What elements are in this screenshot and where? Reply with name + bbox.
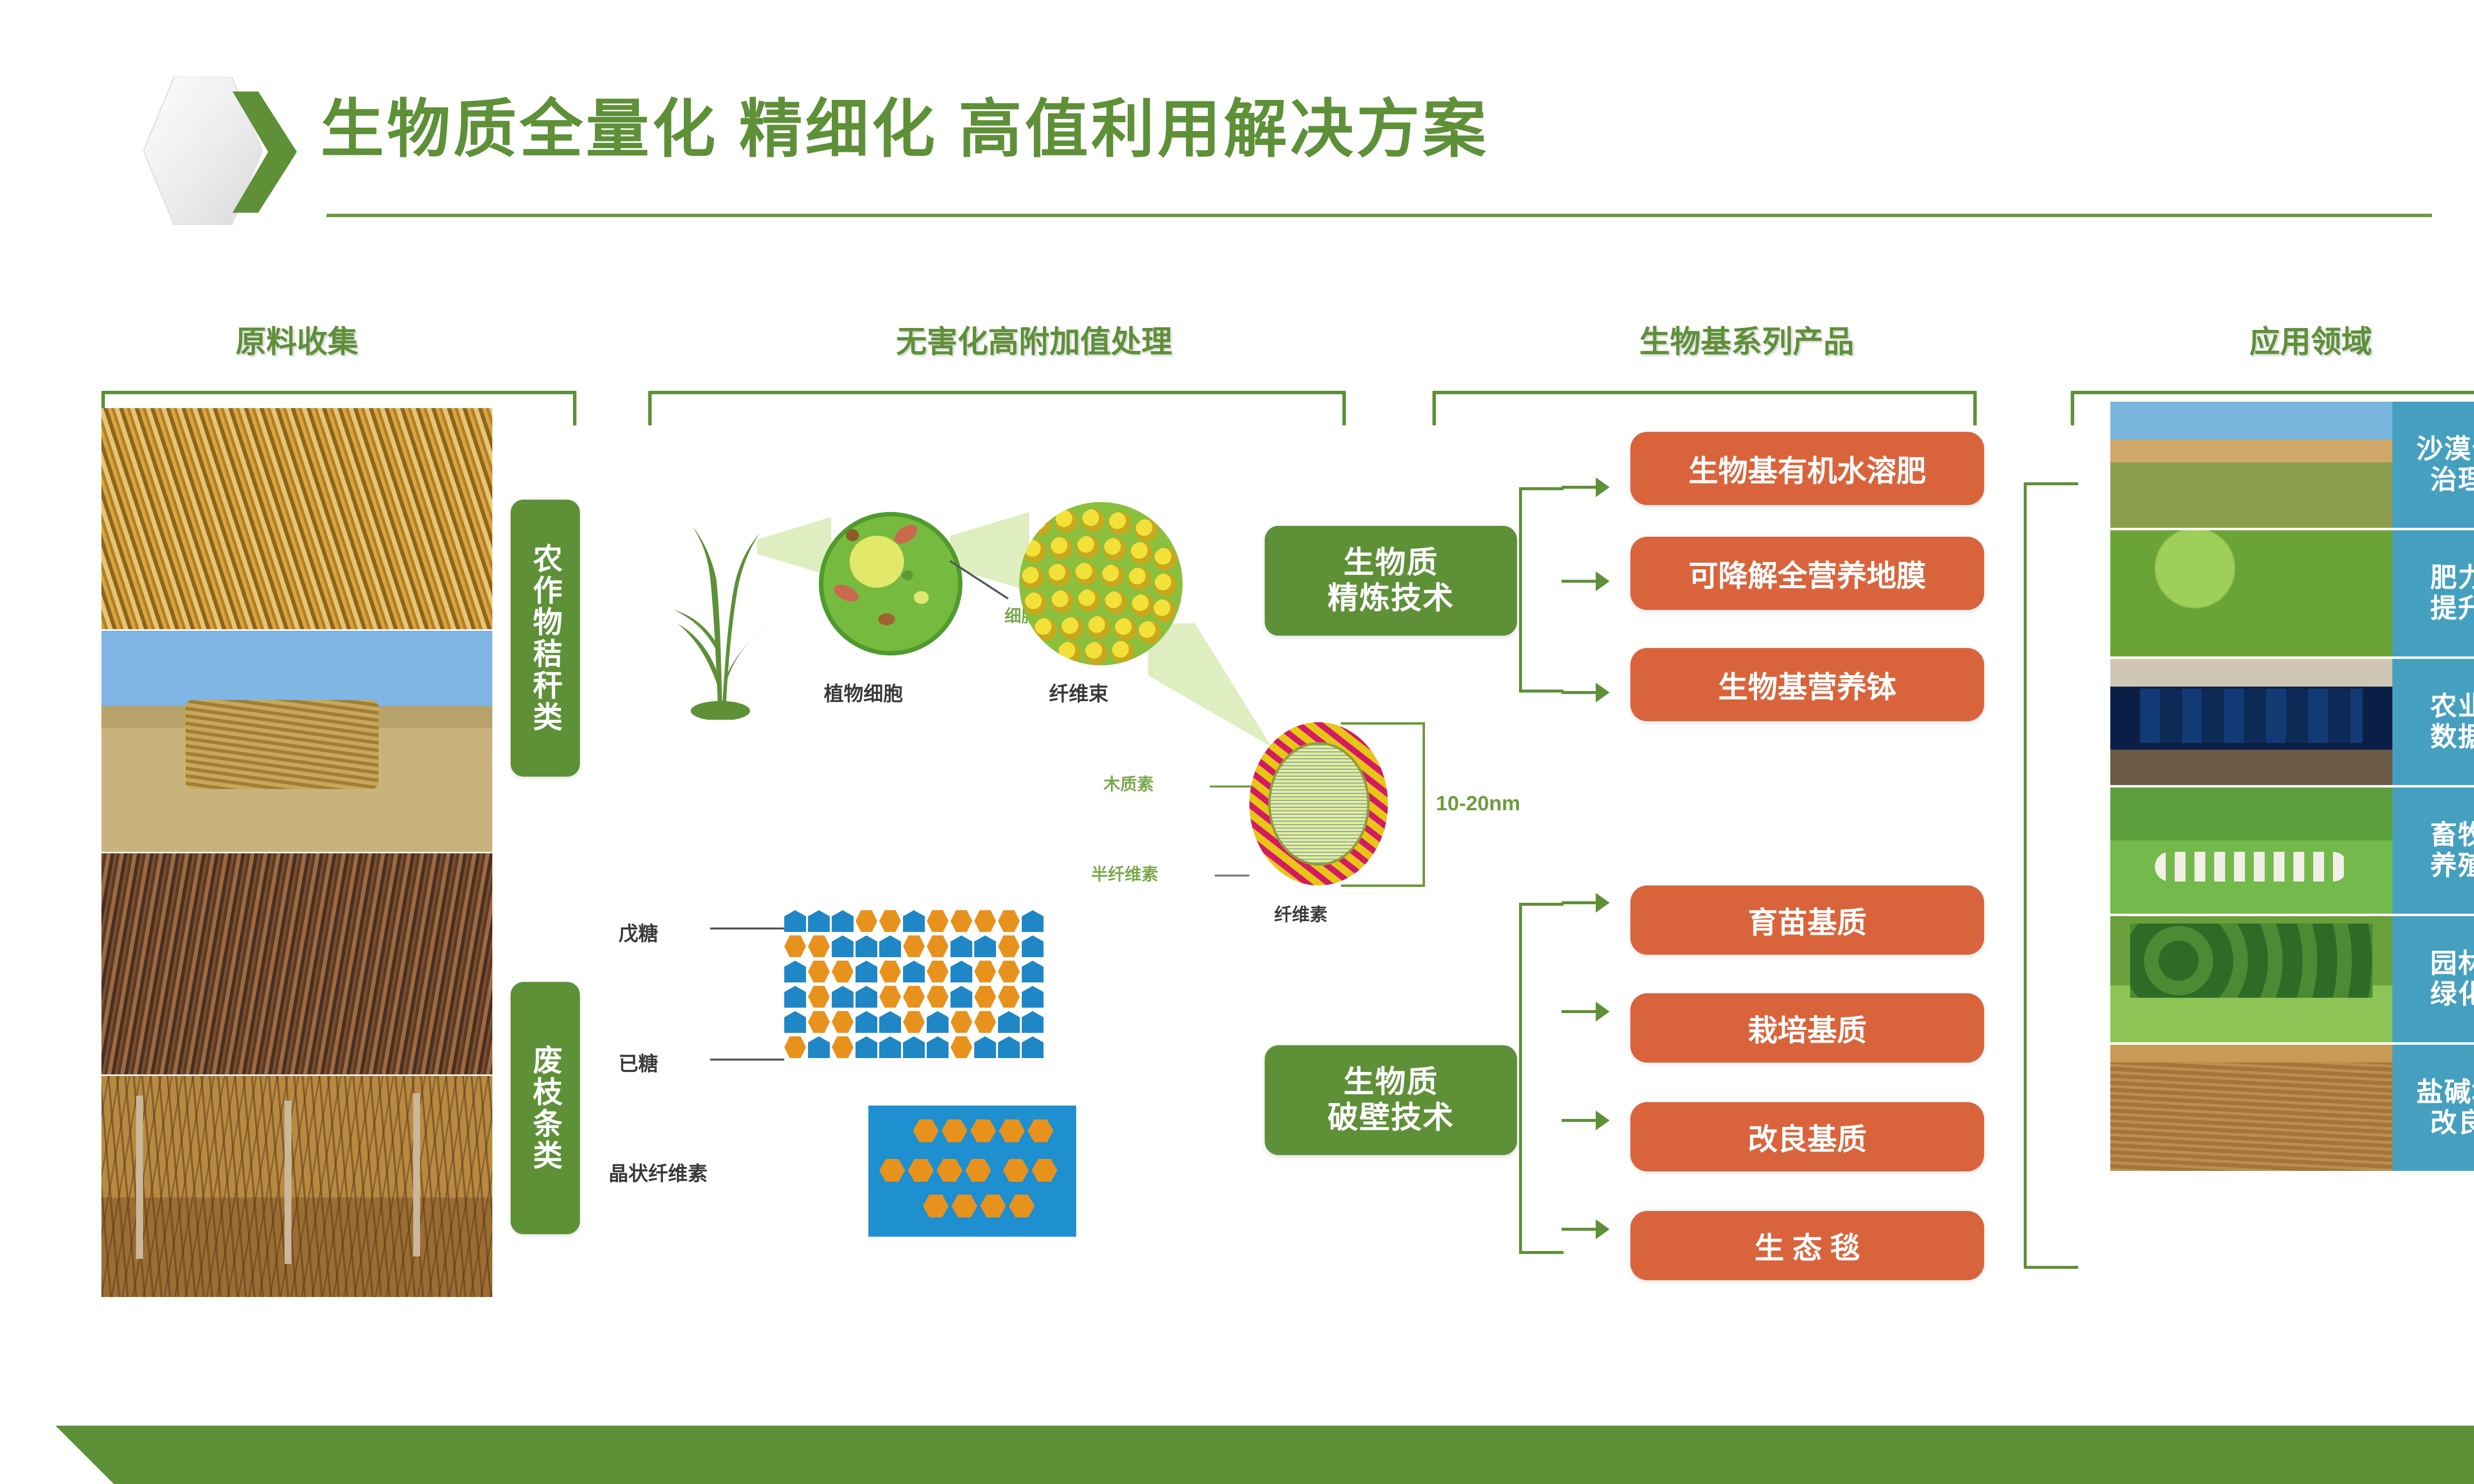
feedstock-photo-column xyxy=(101,408,492,1298)
fertility-photo xyxy=(2110,530,2392,656)
connector-cellwall-trunk xyxy=(1519,903,1564,1254)
dried-straw-photo xyxy=(101,408,492,629)
label-hexose: 已糖 xyxy=(618,1048,658,1076)
product-box-bio-nutrient-pot[interactable]: 生物基营养钵 xyxy=(1630,648,1984,721)
application-label-livestock: 畜牧 养殖 xyxy=(2392,788,2474,914)
connector-arrow-line-7 xyxy=(1562,1228,1599,1231)
agriculture-data-photo xyxy=(2110,659,2392,785)
application-livestock-line1: 畜牧 xyxy=(2430,820,2474,851)
application-row-livestock[interactable]: 畜牧 养殖 xyxy=(2110,788,2474,914)
pentose-leader-line xyxy=(710,927,784,929)
livestock-photo xyxy=(2110,788,2392,914)
connector-arrow-line-6 xyxy=(1562,1119,1599,1122)
connector-arrow-line-3 xyxy=(1562,691,1599,694)
section-header-applications: 应用领域 xyxy=(2078,317,2474,361)
application-landscaping-line2: 绿化 xyxy=(2430,979,2474,1010)
feedstock-category-waste-branches[interactable]: 废枝条类 xyxy=(511,982,580,1234)
label-cellulose: 纤维素 xyxy=(1274,900,1328,926)
connector-arrow-line-2 xyxy=(1562,580,1599,583)
title-underline xyxy=(327,214,2432,217)
label-fiber-bundle: 纤维束 xyxy=(1049,678,1108,706)
technology-box-refining[interactable]: 生物质 精炼技术 xyxy=(1265,526,1517,636)
dimension-bottom-tick xyxy=(1341,884,1425,887)
application-desertification-line2: 治理 xyxy=(2430,465,2474,496)
application-fertility-line2: 提升 xyxy=(2430,594,2474,624)
desertification-photo xyxy=(2110,402,2392,528)
lignin-leader-line xyxy=(1210,786,1252,788)
landscaping-photo xyxy=(2110,916,2392,1042)
infographic-page: 生物质全量化 精细化 高值利用解决方案 原料收集 无害化高附加值处理 生物基系列… xyxy=(0,0,2474,1484)
technology-cellwall-line2: 破壁技术 xyxy=(1328,1100,1454,1136)
chevron-right-icon xyxy=(233,92,297,213)
application-row-landscaping[interactable]: 园林 绿化 xyxy=(2110,916,2474,1042)
sugar-chain-illustration xyxy=(784,910,1230,1073)
connector-arrow-line-5 xyxy=(1562,1010,1599,1013)
application-agri-data-line2: 数据 xyxy=(2430,722,2474,753)
section-header-products: 生物基系列产品 xyxy=(1435,317,2058,361)
dimension-top-tick xyxy=(1341,722,1425,725)
saline-land-photo xyxy=(2110,1045,2392,1171)
application-label-saline-land: 盐碱地 改良 xyxy=(2392,1045,2474,1171)
product-box-improvement-substrate[interactable]: 改良基质 xyxy=(1630,1102,1984,1171)
application-fertility-line1: 肥力 xyxy=(2430,563,2474,594)
technology-box-cellwall-breaking[interactable]: 生物质 破壁技术 xyxy=(1265,1045,1517,1155)
dimension-vertical-line xyxy=(1423,722,1425,886)
label-lignin: 木质素 xyxy=(1103,771,1154,795)
product-box-biodegradable-mulch-film[interactable]: 可降解全营养地膜 xyxy=(1630,537,1984,610)
connector-arrow-line-1 xyxy=(1562,486,1599,489)
application-row-agri-data[interactable]: 农业 数据 xyxy=(2110,659,2474,785)
cut-branches-photo xyxy=(101,853,492,1074)
application-label-fertility: 肥力 提升 xyxy=(2392,530,2474,656)
application-saline-line1: 盐碱地 xyxy=(2417,1077,2474,1108)
application-label-agri-data: 农业 数据 xyxy=(2392,659,2474,785)
application-label-landscaping: 园林 绿化 xyxy=(2392,916,2474,1042)
fiber-bundle-illustration xyxy=(1019,502,1183,665)
label-crystalline-cellulose: 晶状纤维素 xyxy=(609,1158,708,1186)
connector-refining-trunk xyxy=(1519,487,1564,693)
section-header-processing: 无害化高附加值处理 xyxy=(609,317,1460,361)
cellulose-microfibril-illustration xyxy=(1249,722,1388,885)
label-pentose: 戊糖 xyxy=(618,918,658,946)
zoom-beam-3 xyxy=(1148,623,1272,747)
application-saline-line2: 改良 xyxy=(2430,1108,2474,1139)
page-title: 生物质全量化 精细化 高值利用解决方案 xyxy=(321,98,1489,161)
connector-applications-bracket xyxy=(2024,482,2078,1269)
orchard-prunings-photo xyxy=(101,1076,492,1297)
technology-refining-line2: 精炼技术 xyxy=(1328,581,1454,616)
product-box-cultivation-substrate[interactable]: 栽培基质 xyxy=(1630,993,1984,1063)
application-row-saline-land[interactable]: 盐碱地 改良 xyxy=(2110,1045,2474,1171)
application-row-fertility[interactable]: 肥力 提升 xyxy=(2110,530,2474,656)
technology-cellwall-line1: 生物质 xyxy=(1343,1065,1438,1100)
application-livestock-line2: 养殖 xyxy=(2430,851,2474,881)
section-header-feedstock: 原料收集 xyxy=(101,317,492,361)
product-box-ecological-blanket[interactable]: 生 态 毯 xyxy=(1630,1211,1984,1280)
technology-refining-line1: 生物质 xyxy=(1343,545,1438,581)
hemicellulose-leader-line xyxy=(1215,875,1249,877)
connector-arrow-line-4 xyxy=(1562,901,1599,904)
product-box-bio-water-soluble-fertilizer[interactable]: 生物基有机水溶肥 xyxy=(1630,432,1984,505)
application-landscaping-line1: 园林 xyxy=(2430,949,2474,979)
plant-cell-illustration xyxy=(819,512,962,655)
footer-bar xyxy=(0,1426,2474,1484)
product-box-seedling-substrate[interactable]: 育苗基质 xyxy=(1630,885,1984,955)
hexose-leader-line xyxy=(710,1059,784,1061)
application-label-desertification: 沙漠化 治理 xyxy=(2392,402,2474,528)
straw-bale-field-photo xyxy=(101,631,492,852)
crystalline-cellulose-illustration xyxy=(868,1106,1076,1237)
label-plant-cell: 植物细胞 xyxy=(824,678,903,706)
application-row-desertification[interactable]: 沙漠化 治理 xyxy=(2110,402,2474,528)
feedstock-category-crop-straw[interactable]: 农作物秸秆类 xyxy=(511,500,580,777)
label-dimension: 10-20nm xyxy=(1436,791,1520,815)
label-hemicellulose: 半纤维素 xyxy=(1091,861,1158,885)
application-desertification-line1: 沙漠化 xyxy=(2417,434,2474,465)
application-agri-data-line1: 农业 xyxy=(2430,692,2474,722)
